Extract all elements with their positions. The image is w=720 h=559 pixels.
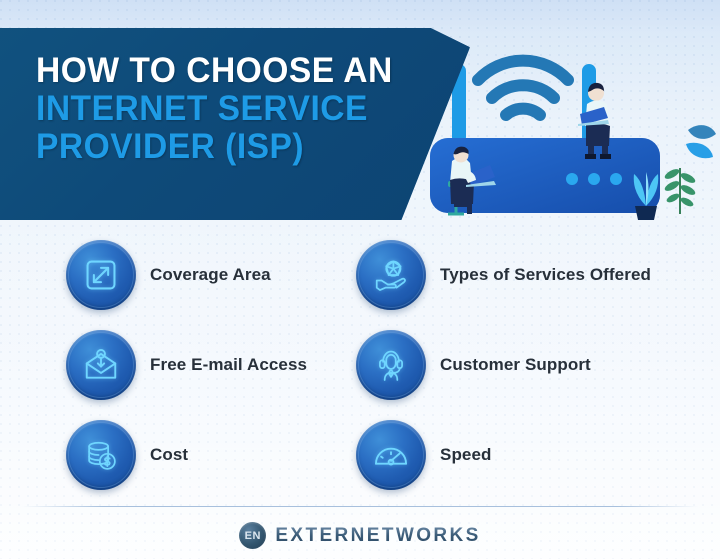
- list-item-coverage-area[interactable]: Coverage Area: [66, 240, 356, 310]
- feature-list: Coverage Area Free E-mail Access: [0, 240, 720, 490]
- hand-holding-network-icon: [356, 240, 426, 310]
- title-line-2: INTERNET SERVICE: [36, 90, 420, 128]
- leaf-branch-icon: [663, 125, 716, 214]
- expand-arrows-icon: [66, 240, 136, 310]
- list-item-label: Free E-mail Access: [150, 355, 307, 375]
- headset-agent-icon: [356, 330, 426, 400]
- list-item-cost[interactable]: Cost: [66, 420, 356, 490]
- logo-mark-text: EN: [245, 530, 261, 542]
- list-item-types-of-services-offered[interactable]: Types of Services Offered: [356, 240, 676, 310]
- wifi-router-illustration: [430, 18, 720, 223]
- title-line-3: PROVIDER (ISP): [36, 128, 420, 166]
- coins-money-icon: [66, 420, 136, 490]
- list-item-free-email-access[interactable]: Free E-mail Access: [66, 330, 356, 400]
- router-led-dots: [566, 173, 622, 185]
- infographic-canvas: HOW TO CHOOSE AN INTERNET SERVICE PROVID…: [0, 0, 720, 559]
- en-logo-mark-icon: EN: [239, 522, 266, 549]
- envelope-icon: [66, 330, 136, 400]
- list-item-label: Coverage Area: [150, 265, 271, 285]
- brand-name: EXTERNETWORKS: [275, 525, 480, 547]
- list-item-speed[interactable]: Speed: [356, 420, 676, 490]
- footer-branding[interactable]: EN EXTERNETWORKS: [0, 512, 720, 559]
- title-line-1: HOW TO CHOOSE AN: [36, 52, 420, 90]
- list-item-label: Speed: [440, 445, 492, 465]
- list-item-customer-support[interactable]: Customer Support: [356, 330, 676, 400]
- list-item-label: Cost: [150, 445, 188, 465]
- wifi-signal-icon: [478, 61, 568, 115]
- footer-divider: [22, 506, 698, 507]
- speedometer-icon: [356, 420, 426, 490]
- page-title: HOW TO CHOOSE AN INTERNET SERVICE PROVID…: [36, 52, 436, 166]
- list-item-label: Customer Support: [440, 355, 591, 375]
- list-item-label: Types of Services Offered: [440, 265, 651, 285]
